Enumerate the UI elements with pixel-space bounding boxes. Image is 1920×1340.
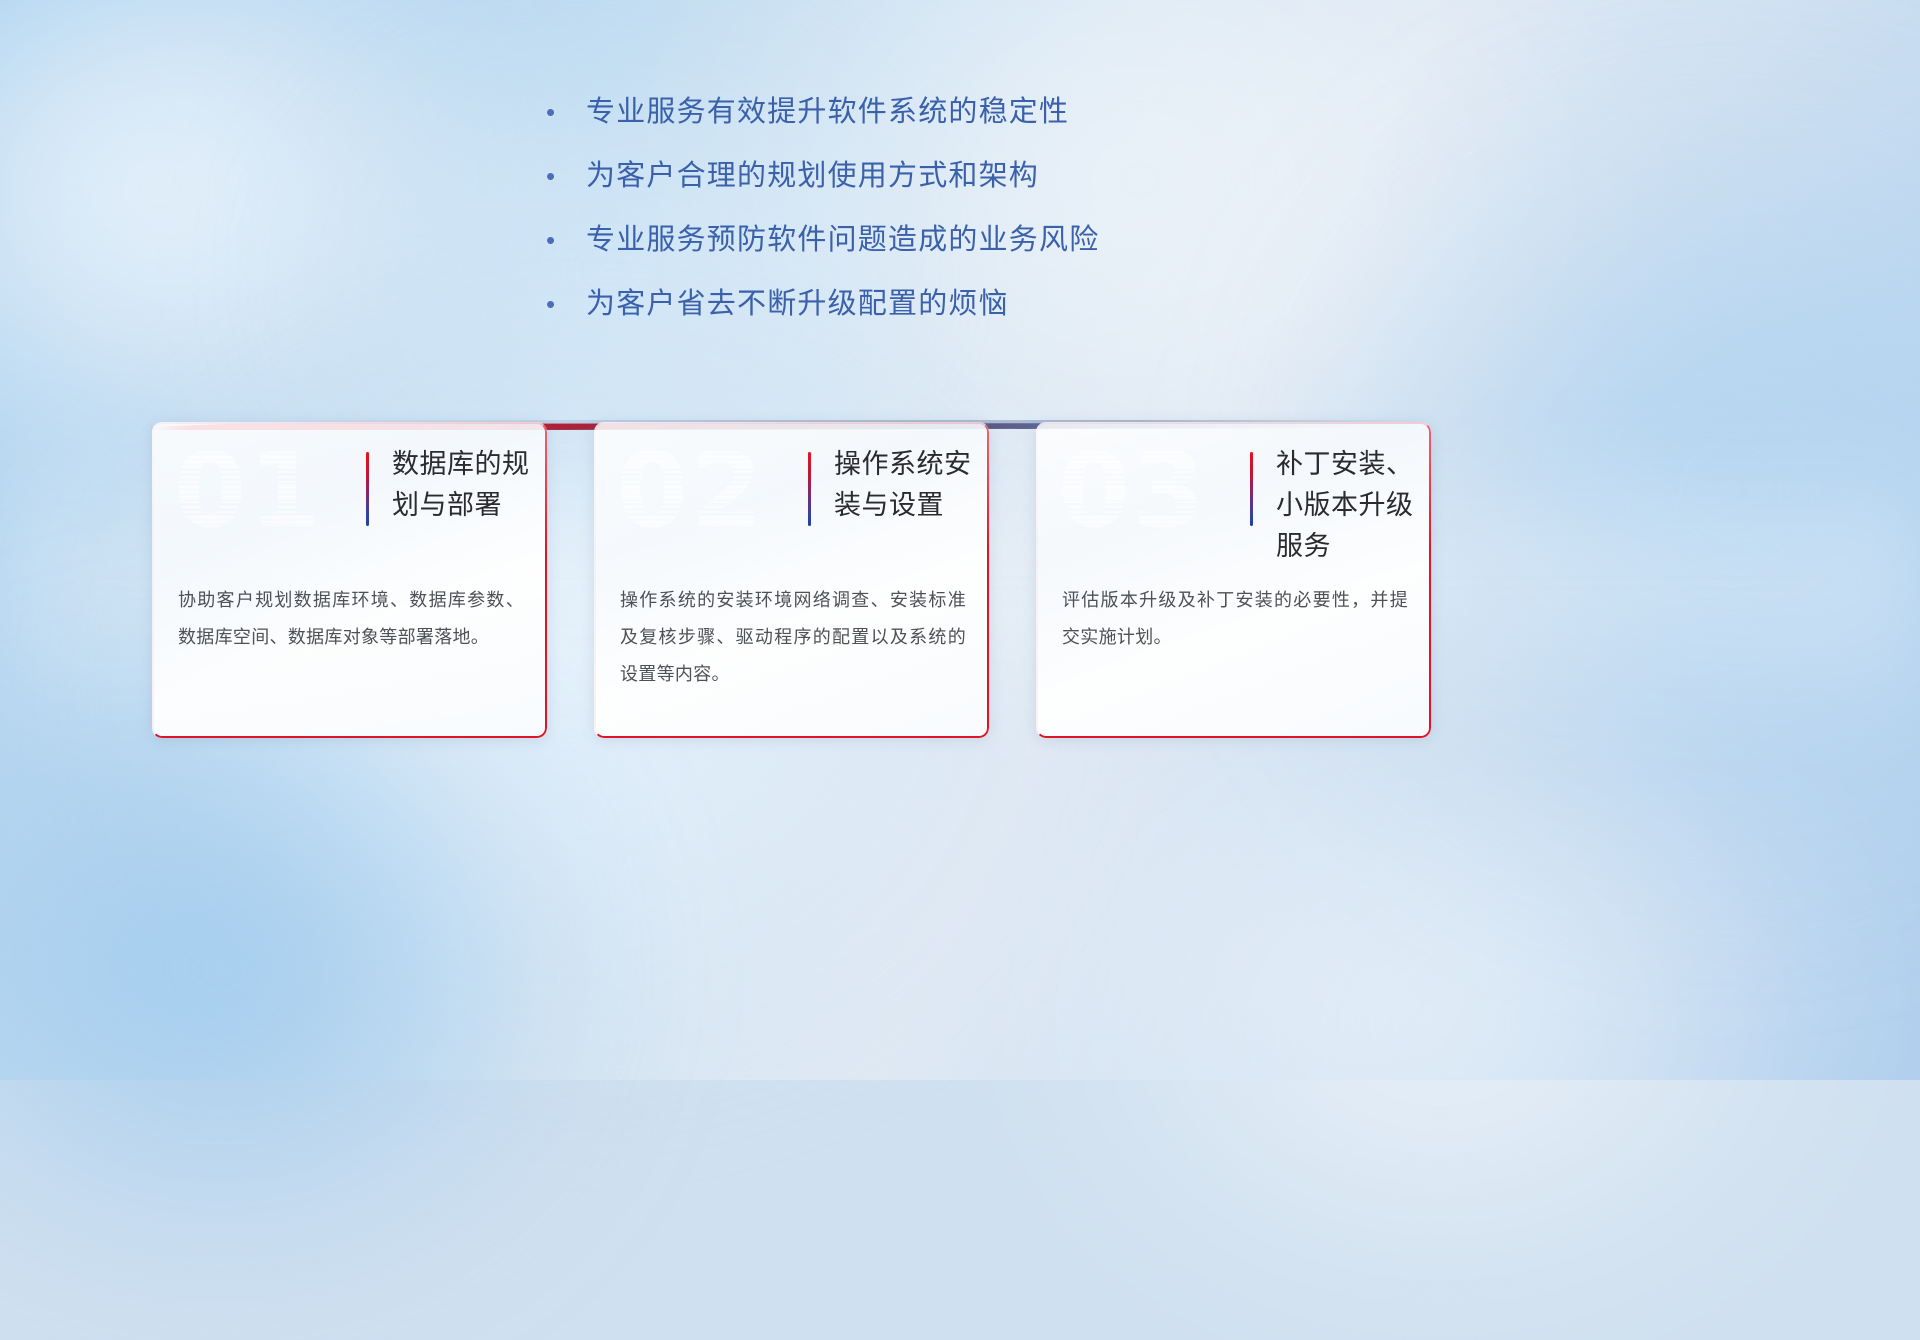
card-number-watermark-tint: 01 [174,438,323,542]
card-title: 操作系统安装与设置 [834,444,984,526]
card-accent-bar [808,452,811,526]
bullet-dot-icon: • [540,163,586,189]
card-title: 数据库的规划与部署 [392,444,542,526]
bullet-text: 为客户省去不断升级配置的烦恼 [586,280,1009,322]
background-glow-bottom-right [1000,700,1880,1340]
card-number-watermark: 02 [616,438,765,542]
card-number-watermark: 01 [174,438,323,542]
bullet-dot-icon: • [540,99,586,125]
card-header: 02 02 操作系统安装与设置 [594,422,989,554]
bullet-item: • 专业服务有效提升软件系统的稳定性 [540,88,1099,152]
card-description: 评估版本升级及补丁安装的必要性，并提交实施计划。 [1062,582,1408,656]
card-title: 补丁安装、小版本升级服务 [1276,444,1426,567]
card-number-watermark: 03 [1058,438,1207,542]
bullet-text: 为客户合理的规划使用方式和架构 [586,152,1039,194]
card-number-watermark-tint: 02 [616,438,765,542]
benefits-bullet-list: • 专业服务有效提升软件系统的稳定性 • 为客户合理的规划使用方式和架构 • 专… [540,88,1099,344]
bullet-item: • 为客户省去不断升级配置的烦恼 [540,280,1099,344]
service-card-list: 01 01 数据库的规划与部署 协助客户规划数据库环境、数据库参数、数据库空间、… [152,422,1572,752]
bullet-text: 专业服务预防软件问题造成的业务风险 [586,216,1099,258]
bullet-dot-icon: • [540,291,586,317]
card-header: 01 01 数据库的规划与部署 [152,422,547,554]
card-description: 协助客户规划数据库环境、数据库参数、数据库空间、数据库对象等部署落地。 [178,582,524,656]
service-card[interactable]: 03 03 补丁安装、小版本升级服务 评估版本升级及补丁安装的必要性，并提交实施… [1036,422,1431,738]
bullet-text: 专业服务有效提升软件系统的稳定性 [586,88,1069,130]
bullet-item: • 为客户合理的规划使用方式和架构 [540,152,1099,216]
service-card[interactable]: 01 01 数据库的规划与部署 协助客户规划数据库环境、数据库参数、数据库空间、… [152,422,547,738]
card-description: 操作系统的安装环境网络调查、安装标准及复核步骤、驱动程序的配置以及系统的设置等内… [620,582,966,693]
bullet-dot-icon: • [540,227,586,253]
card-header: 03 03 补丁安装、小版本升级服务 [1036,422,1431,554]
service-card[interactable]: 02 02 操作系统安装与设置 操作系统的安装环境网络调查、安装标准及复核步骤、… [594,422,989,738]
card-accent-bar [366,452,369,526]
bullet-item: • 专业服务预防软件问题造成的业务风险 [540,216,1099,280]
card-accent-bar [1250,452,1253,526]
card-number-watermark-tint: 03 [1058,438,1207,542]
